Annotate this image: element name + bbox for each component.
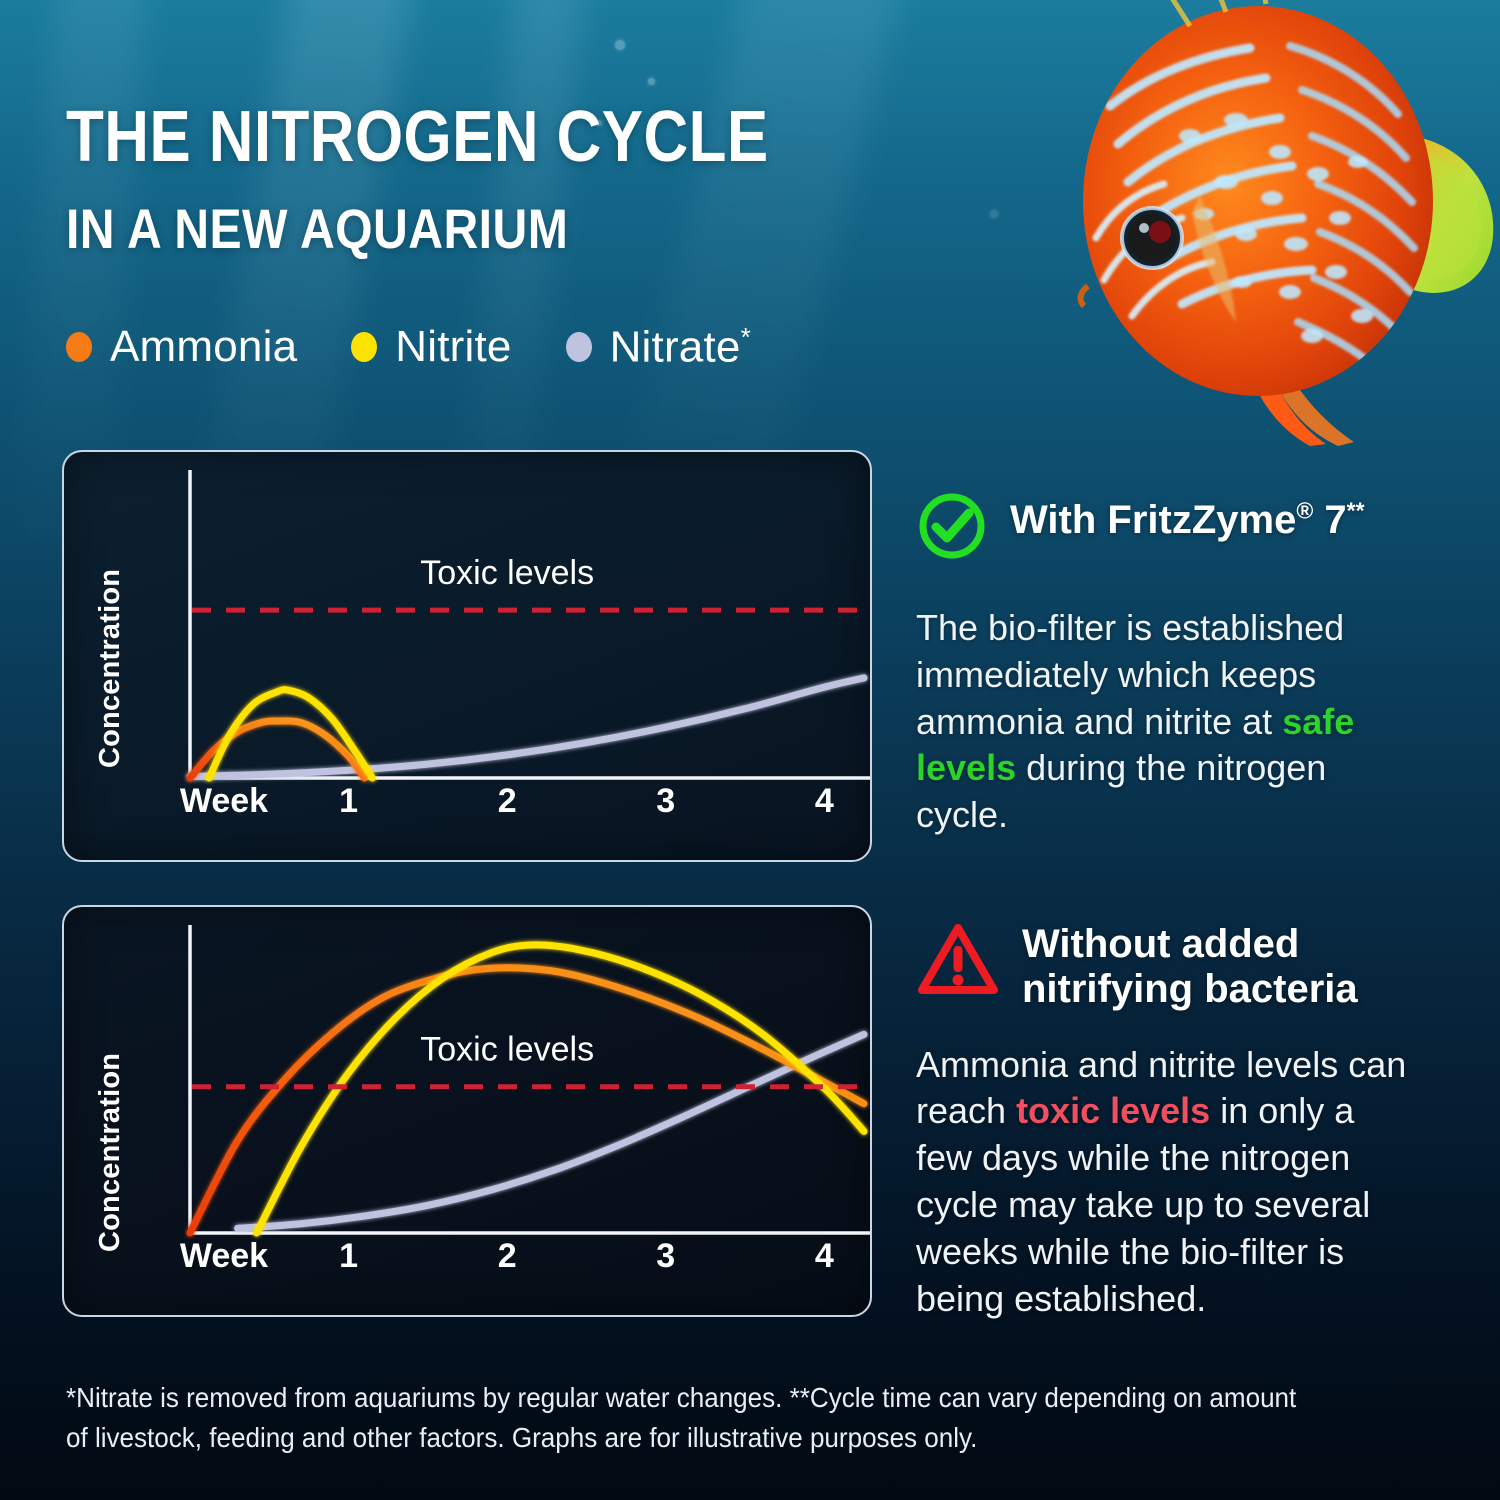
legend-item-nitrate: Nitrate* bbox=[566, 322, 751, 373]
discus-fish-photo bbox=[1040, 0, 1500, 446]
bubble bbox=[615, 40, 625, 50]
infographic-root: THE NITROGEN CYCLE IN A NEW AQUARIUM Amm… bbox=[0, 0, 1500, 1500]
chart-panel-with-fritzzyme: Concentration Toxic levels Week 1 2 3 4 bbox=[62, 450, 872, 862]
bubble bbox=[990, 210, 998, 218]
legend-label-nitrite: Nitrite bbox=[395, 322, 511, 372]
chart1-xtick-4: 4 bbox=[815, 782, 834, 821]
warning-triangle-icon bbox=[916, 920, 1000, 1003]
footnote: *Nitrate is removed from aquariums by re… bbox=[66, 1378, 1322, 1458]
registered-mark: ® bbox=[1296, 498, 1313, 524]
legend-item-ammonia: Ammonia bbox=[66, 322, 297, 372]
legend-dot-ammonia bbox=[66, 332, 92, 362]
series-ammonia-line bbox=[190, 968, 864, 1233]
chart1-xtick-week: Week bbox=[180, 782, 268, 821]
toxic-levels-highlight: toxic levels bbox=[1016, 1090, 1210, 1131]
legend-dot-nitrate bbox=[566, 332, 592, 362]
page-title: THE NITROGEN CYCLE bbox=[66, 96, 769, 178]
check-circle-icon bbox=[916, 490, 988, 567]
double-asterisk: ** bbox=[1347, 498, 1365, 524]
chart1-x-axis: Week 1 2 3 4 bbox=[64, 782, 870, 832]
chart2-xtick-1: 1 bbox=[339, 1237, 358, 1276]
block1-heading-row: With FritzZyme® 7** bbox=[916, 490, 1416, 567]
legend-label-ammonia: Ammonia bbox=[110, 322, 297, 372]
legend: Ammonia Nitrite Nitrate* bbox=[66, 322, 805, 373]
chart1-xtick-1: 1 bbox=[339, 782, 358, 821]
legend-label-nitrate: Nitrate* bbox=[610, 322, 751, 373]
block1-heading: With FritzZyme® 7** bbox=[1010, 490, 1365, 543]
info-block-with-fritzzyme: With FritzZyme® 7** The bio-filter is es… bbox=[916, 490, 1416, 839]
block2-heading: Without added nitrifying bacteria bbox=[1022, 920, 1416, 1012]
legend-dot-nitrite bbox=[351, 332, 377, 362]
page-subtitle: IN A NEW AQUARIUM bbox=[66, 196, 568, 261]
legend-item-nitrite: Nitrite bbox=[351, 322, 511, 372]
series-nitrite-line bbox=[209, 690, 372, 778]
block1-body: The bio-filter is established immediatel… bbox=[916, 605, 1416, 839]
bubble bbox=[648, 78, 655, 85]
chart2-xtick-4: 4 bbox=[815, 1237, 834, 1276]
nitrate-asterisk: * bbox=[741, 322, 751, 352]
chart-panel-without-bacteria: Concentration Toxic levels Week 1 2 3 4 bbox=[62, 905, 872, 1317]
chart2-xtick-week: Week bbox=[180, 1237, 268, 1276]
toxic-levels-label: Toxic levels bbox=[420, 1031, 594, 1069]
toxic-levels-label: Toxic levels bbox=[420, 554, 594, 592]
block2-body: Ammonia and nitrite levels can reach tox… bbox=[916, 1042, 1416, 1323]
chart2-xtick-3: 3 bbox=[656, 1237, 675, 1276]
chart2-x-axis: Week 1 2 3 4 bbox=[64, 1237, 870, 1287]
chart1-xtick-3: 3 bbox=[656, 782, 675, 821]
chart1-xtick-2: 2 bbox=[498, 782, 517, 821]
chart2-xtick-2: 2 bbox=[498, 1237, 517, 1276]
block2-heading-row: Without added nitrifying bacteria bbox=[916, 920, 1416, 1012]
info-block-without-bacteria: Without added nitrifying bacteria Ammoni… bbox=[916, 920, 1416, 1322]
